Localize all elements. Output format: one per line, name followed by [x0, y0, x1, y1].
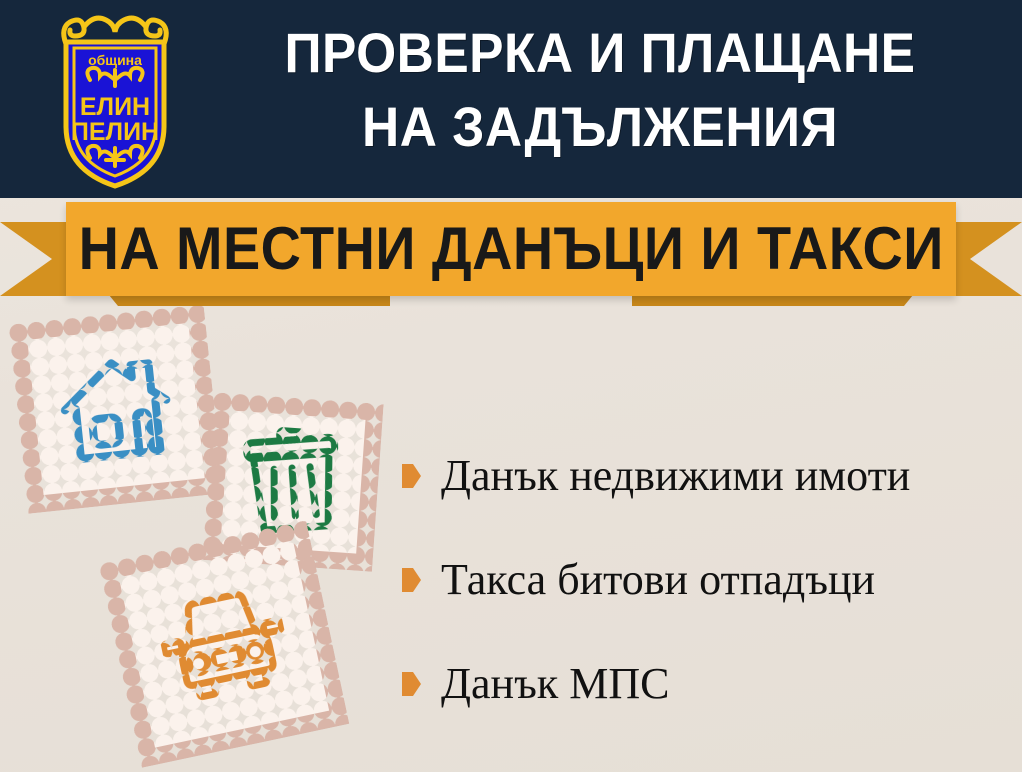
list-item-label: Данък недвижими имоти — [441, 452, 910, 500]
subtitle-ribbon: НА МЕСТНИ ДАНЪЦИ И ТАКСИ — [0, 196, 1022, 314]
ribbon-label: НА МЕСТНИ ДАНЪЦИ И ТАКСИ — [78, 218, 943, 280]
list-item[interactable]: Данък МПС — [402, 632, 1012, 736]
title-line-1: ПРОВЕРКА И ПЛАЩАНЕ — [223, 16, 977, 90]
page-title: ПРОВЕРКА И ПЛАЩАНЕ НА ЗАДЪЛЖЕНИЯ — [190, 16, 1010, 164]
car-icon — [153, 580, 296, 708]
stamp-inner-vehicle — [119, 540, 329, 747]
house-icon — [51, 347, 180, 471]
svg-text:ЕЛИН: ЕЛИН — [80, 93, 150, 121]
stamp-inner-property — [27, 323, 204, 495]
coat-of-arms-icon: община ЕЛИН ПЕЛИН — [44, 8, 186, 190]
stamp-property — [9, 304, 224, 513]
list-item[interactable]: Такса битови отпадъци — [402, 528, 1012, 632]
list-item[interactable]: Данък недвижими имоти — [402, 424, 1012, 528]
bullet-arrow-icon — [402, 672, 421, 696]
coat-of-arms: община ЕЛИН ПЕЛИН — [44, 8, 186, 190]
list-item-label: Такса битови отпадъци — [441, 556, 875, 604]
svg-text:ПЕЛИН: ПЕЛИН — [71, 118, 159, 146]
stamp-vehicle — [99, 520, 350, 768]
header-banner: община ЕЛИН ПЕЛИН ПРОВЕРКА И ПЛАЩАНЕ НА … — [0, 0, 1022, 198]
ribbon-banner: НА МЕСТНИ ДАНЪЦИ И ТАКСИ — [66, 202, 956, 296]
poster-canvas: община ЕЛИН ПЕЛИН ПРОВЕРКА И ПЛАЩАНЕ НА … — [0, 0, 1022, 772]
title-line-2: НА ЗАДЪЛЖЕНИЯ — [223, 90, 977, 164]
bullet-arrow-icon — [402, 568, 421, 592]
bullet-arrow-icon — [402, 464, 421, 488]
svg-text:община: община — [88, 52, 142, 68]
list-item-label: Данък МПС — [441, 660, 669, 708]
tax-type-list: Данък недвижими имоти Такса битови отпад… — [402, 424, 1012, 736]
